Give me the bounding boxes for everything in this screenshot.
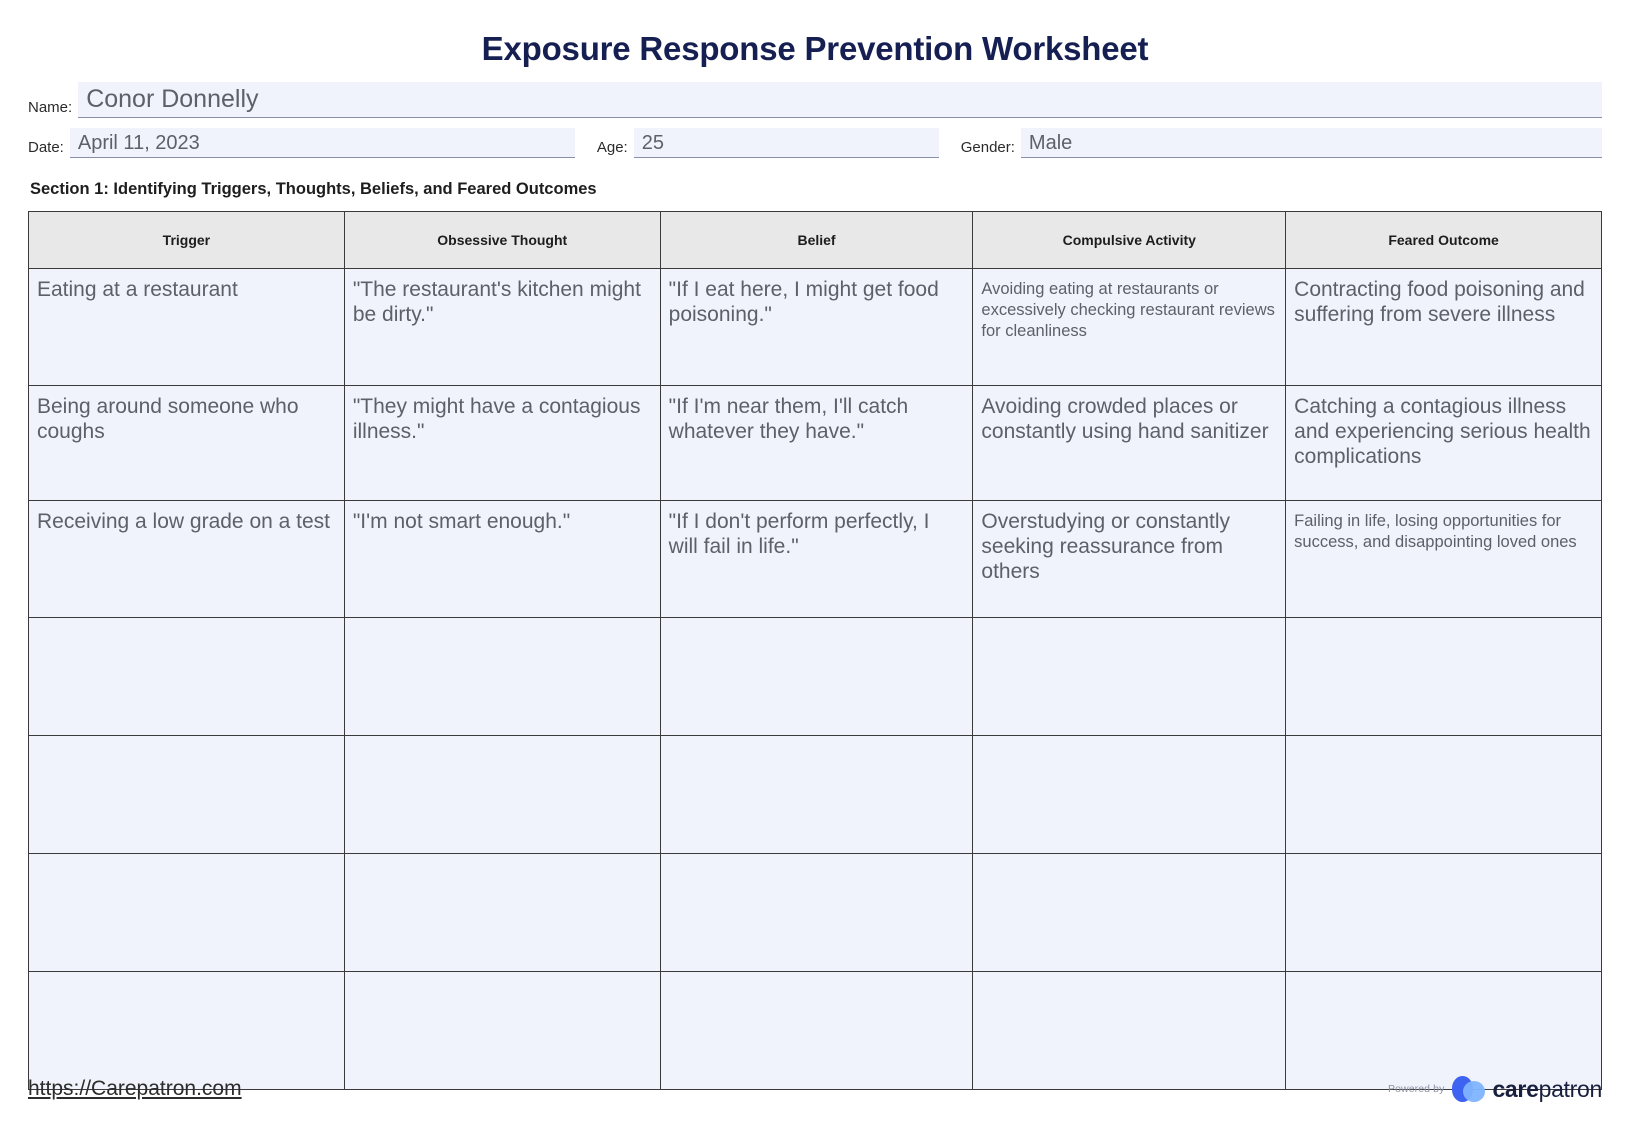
cell-belief[interactable]	[660, 618, 973, 736]
cell-feared-outcome[interactable]: Catching a contagious illness and experi…	[1286, 386, 1602, 501]
table-row: Being around someone who coughs "They mi…	[29, 386, 1602, 501]
cell-compulsive-activity[interactable]: Overstudying or constantly seeking reass…	[973, 501, 1286, 618]
cell-obsessive-thought[interactable]	[344, 736, 660, 854]
cell-trigger[interactable]: Being around someone who coughs	[29, 386, 345, 501]
carepatron-branding: Powered by carepatron	[1388, 1074, 1602, 1104]
cell-compulsive-activity[interactable]	[973, 736, 1286, 854]
page-footer: https://Carepatron.com Powered by carepa…	[28, 1074, 1602, 1104]
date-input[interactable]: April 11, 2023	[70, 128, 575, 158]
cell-belief[interactable]: "If I don't perform perfectly, I will fa…	[660, 501, 973, 618]
carepatron-logo-icon	[1452, 1074, 1486, 1104]
cell-belief[interactable]	[660, 736, 973, 854]
cell-compulsive-activity[interactable]: Avoiding eating at restaurants or excess…	[973, 269, 1286, 386]
cell-obsessive-thought[interactable]	[344, 618, 660, 736]
column-header-feared-outcome: Feared Outcome	[1286, 212, 1602, 269]
name-input[interactable]: Conor Donnelly	[78, 82, 1602, 118]
age-label: Age:	[597, 139, 628, 158]
date-age-gender-row: Date: April 11, 2023 Age: 25 Gender: Mal…	[28, 128, 1602, 158]
cell-trigger[interactable]	[29, 972, 345, 1090]
gender-label: Gender:	[961, 139, 1015, 158]
carepatron-wordmark: carepatron	[1492, 1076, 1602, 1103]
powered-by-label: Powered by	[1388, 1083, 1444, 1095]
name-row: Name: Conor Donnelly	[28, 82, 1602, 118]
table-row	[29, 972, 1602, 1090]
cell-obsessive-thought[interactable]	[344, 972, 660, 1090]
cell-compulsive-activity[interactable]	[973, 972, 1286, 1090]
cell-trigger[interactable]: Eating at a restaurant	[29, 269, 345, 386]
cell-compulsive-activity[interactable]	[973, 618, 1286, 736]
column-header-obsessive-thought: Obsessive Thought	[344, 212, 660, 269]
page-title: Exposure Response Prevention Worksheet	[28, 30, 1602, 68]
cell-belief[interactable]	[660, 972, 973, 1090]
cell-feared-outcome[interactable]: Contracting food poisoning and suffering…	[1286, 269, 1602, 386]
cell-feared-outcome[interactable]	[1286, 618, 1602, 736]
cell-trigger[interactable]	[29, 854, 345, 972]
cell-belief[interactable]	[660, 854, 973, 972]
cell-belief[interactable]: "If I eat here, I might get food poisoni…	[660, 269, 973, 386]
cell-obsessive-thought[interactable]	[344, 854, 660, 972]
table-row	[29, 736, 1602, 854]
cell-feared-outcome[interactable]: Failing in life, losing opportunities fo…	[1286, 501, 1602, 618]
column-header-compulsive-activity: Compulsive Activity	[973, 212, 1286, 269]
cell-obsessive-thought[interactable]: "I'm not smart enough."	[344, 501, 660, 618]
table-row: Receiving a low grade on a test "I'm not…	[29, 501, 1602, 618]
wordmark-prefix: care	[1492, 1076, 1538, 1102]
cell-feared-outcome[interactable]	[1286, 736, 1602, 854]
wordmark-suffix: patron	[1539, 1076, 1602, 1102]
table-row	[29, 618, 1602, 736]
date-label: Date:	[28, 139, 64, 158]
age-input[interactable]: 25	[634, 128, 939, 158]
carepatron-link[interactable]: https://Carepatron.com	[28, 1077, 242, 1101]
cell-feared-outcome[interactable]	[1286, 972, 1602, 1090]
erp-table: Trigger Obsessive Thought Belief Compuls…	[28, 211, 1602, 1090]
column-header-belief: Belief	[660, 212, 973, 269]
gender-input[interactable]: Male	[1021, 128, 1602, 158]
table-header-row: Trigger Obsessive Thought Belief Compuls…	[29, 212, 1602, 269]
cell-compulsive-activity[interactable]	[973, 854, 1286, 972]
name-label: Name:	[28, 99, 72, 118]
section-1-heading: Section 1: Identifying Triggers, Thought…	[30, 180, 1602, 199]
worksheet-page: Exposure Response Prevention Worksheet N…	[0, 0, 1630, 1142]
table-row: Eating at a restaurant "The restaurant's…	[29, 269, 1602, 386]
cell-compulsive-activity[interactable]: Avoiding crowded places or constantly us…	[973, 386, 1286, 501]
table-row	[29, 854, 1602, 972]
cell-trigger[interactable]	[29, 736, 345, 854]
cell-feared-outcome[interactable]	[1286, 854, 1602, 972]
cell-belief[interactable]: "If I'm near them, I'll catch whatever t…	[660, 386, 973, 501]
cell-trigger[interactable]	[29, 618, 345, 736]
identity-fields: Name: Conor Donnelly Date: April 11, 202…	[28, 82, 1602, 158]
cell-trigger[interactable]: Receiving a low grade on a test	[29, 501, 345, 618]
column-header-trigger: Trigger	[29, 212, 345, 269]
cell-obsessive-thought[interactable]: "The restaurant's kitchen might be dirty…	[344, 269, 660, 386]
cell-obsessive-thought[interactable]: "They might have a contagious illness."	[344, 386, 660, 501]
